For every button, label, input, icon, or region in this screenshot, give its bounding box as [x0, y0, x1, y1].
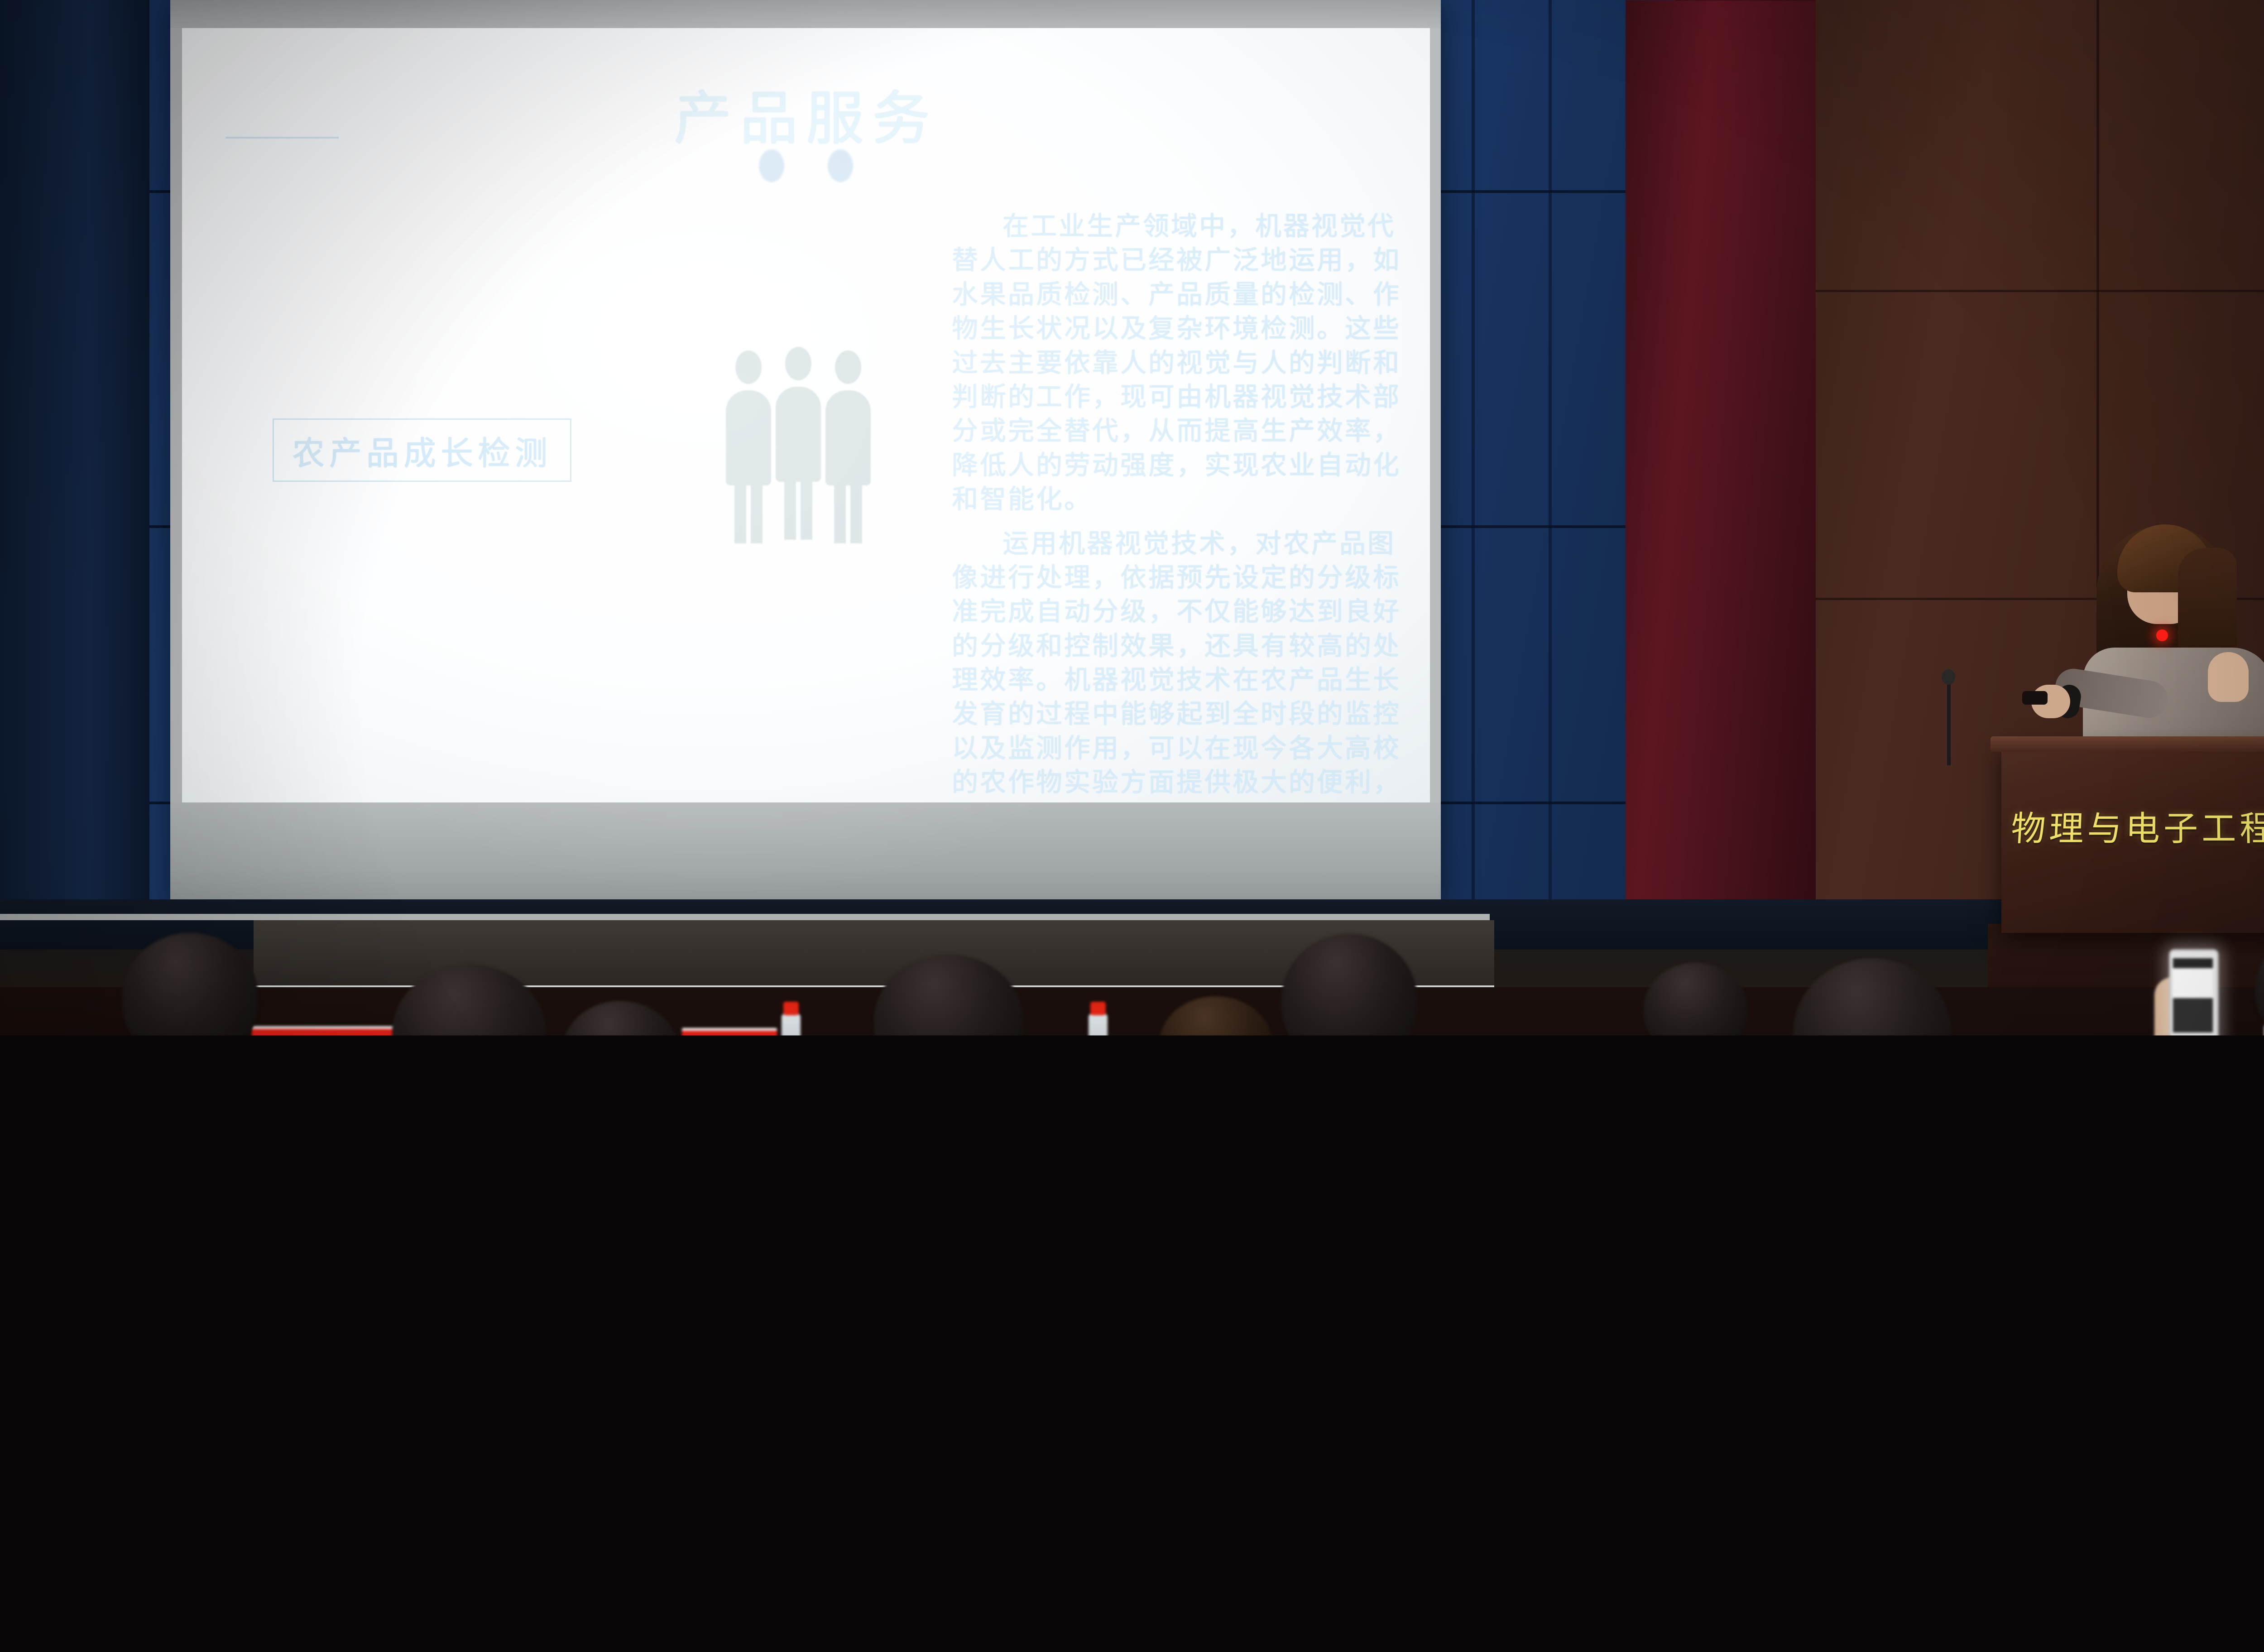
screen-top-bar — [170, 0, 1441, 28]
audience-head — [398, 1096, 598, 1286]
person-body — [825, 390, 871, 485]
red-name-card — [1501, 1050, 1628, 1068]
person-figure-1 — [724, 351, 773, 545]
lecture-hall-photo: 产品服务 农产品成长检测 — [0, 0, 2264, 1652]
stage-curtain — [1626, 0, 1843, 933]
person-leg-left — [834, 480, 846, 543]
audience-head — [561, 1001, 679, 1105]
left-dark-wall — [0, 0, 149, 924]
audience-head — [122, 933, 258, 1060]
person-body — [776, 387, 821, 482]
slide-label-box: 农产品成长检测 — [273, 418, 571, 482]
audience-head — [392, 965, 546, 1100]
chair-back — [136, 1141, 353, 1291]
slide-surface: 产品服务 农产品成长检测 — [182, 28, 1430, 802]
person-head — [785, 347, 811, 380]
phone-screen — [2173, 958, 2213, 1032]
person-body — [726, 390, 771, 485]
slide-label-text: 农产品成长检测 — [292, 427, 552, 474]
person-head — [835, 351, 861, 384]
water-bottle — [782, 1013, 801, 1068]
smartphone-icon — [2169, 949, 2219, 1044]
person-leg-left — [784, 476, 796, 540]
audience-head — [1322, 1064, 1467, 1205]
slide-title-dots — [182, 149, 1430, 184]
audience-head — [1087, 1168, 1322, 1395]
presentation-clicker-icon — [2022, 691, 2048, 705]
slide-paragraph-1: 在工业生产领域中，机器视觉代替人工的方式已经被广泛地运用，如水果品质检测、产品质… — [952, 209, 1418, 517]
person-leg-left — [734, 480, 746, 543]
person-leg-right — [751, 480, 763, 543]
screen-bottom-bar — [170, 802, 1441, 910]
laser-pointer-icon — [2156, 629, 2168, 641]
person-leg-right — [850, 480, 862, 543]
podium: 物理与电子工程学院 — [2001, 743, 2264, 933]
slide-body-text: 在工业生产领域中，机器视觉代替人工的方式已经被广泛地运用，如水果品质检测、产品质… — [952, 209, 1418, 802]
person-figure-2 — [773, 347, 823, 542]
dot-right — [828, 149, 853, 182]
slide-title: 产品服务 — [182, 72, 1430, 155]
podium-sign-text: 物理与电子工程学院 — [2000, 801, 2264, 850]
presenter-raised-hand — [2208, 652, 2249, 702]
audience-head — [915, 1042, 1050, 1173]
backpack — [1340, 1508, 1748, 1652]
bottle-cap-icon — [1090, 1002, 1106, 1015]
projection-screen: 产品服务 农产品成长检测 — [170, 0, 1441, 910]
bottle-cap-icon — [783, 1002, 799, 1015]
three-people-icon — [724, 351, 873, 545]
person-figure-3 — [823, 351, 873, 545]
water-bottle — [1089, 1013, 1108, 1068]
dot-left — [759, 149, 784, 182]
person-head — [735, 351, 762, 384]
person-leg-right — [801, 476, 812, 540]
red-name-card — [682, 1028, 777, 1046]
audience-head — [1856, 1159, 2092, 1386]
audience-head — [1644, 963, 1748, 1053]
audience-head — [480, 1440, 734, 1652]
microphone-stand — [1947, 679, 1951, 765]
stage-lip-highlight — [0, 914, 1490, 920]
podium-top-surface — [1991, 736, 2264, 752]
red-name-card — [252, 1026, 397, 1044]
audience-head — [118, 1368, 435, 1652]
microphone-icon — [1942, 669, 1955, 685]
presenter — [2029, 516, 2264, 770]
slide-paragraph-2: 运用机器视觉技术，对农产品图像进行处理，依据预先设定的分级标准完成自动分级，不仅… — [952, 527, 1418, 802]
audience-head — [1281, 934, 1417, 1065]
audience-head — [1793, 958, 1952, 1108]
